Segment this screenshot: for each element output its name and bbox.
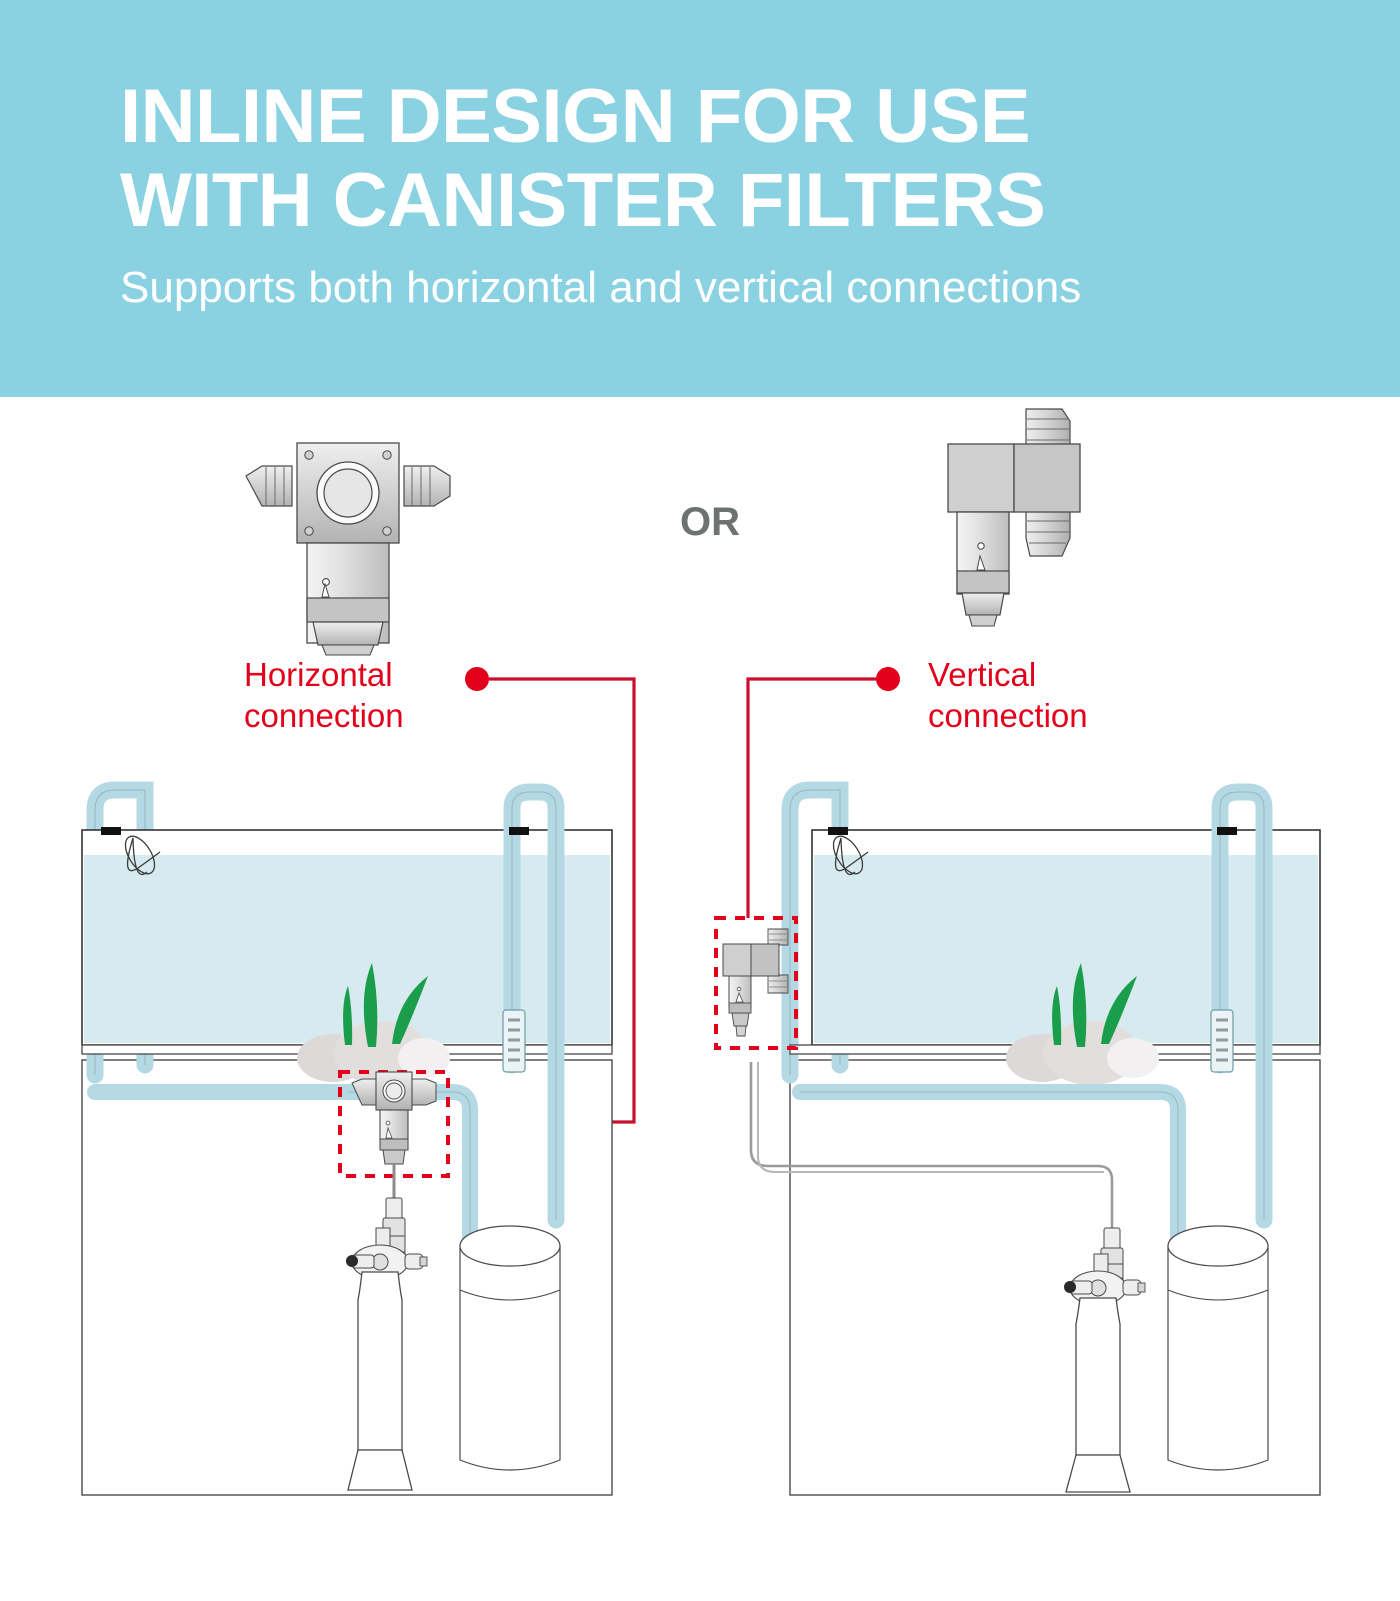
vertical-window-icon <box>978 543 984 549</box>
diagram-canvas <box>0 0 1400 1601</box>
scene-vertical <box>716 790 1320 1495</box>
vertical-bottom-nut <box>962 593 1004 615</box>
rim-clip-right-a <box>828 827 848 835</box>
product-horizontal-diffuser <box>246 443 450 655</box>
diffuser-bottom-nut <box>313 622 383 645</box>
infographic-page: INLINE DESIGN FOR USE WITH CANISTER FILT… <box>0 0 1400 1601</box>
canister-filter-left <box>460 1226 560 1470</box>
callout-dot-horizontal <box>465 667 489 691</box>
diffuser-window-icon <box>323 579 330 586</box>
scene-horizontal <box>82 790 612 1495</box>
co2-cylinder-left <box>348 1272 412 1490</box>
tank-water-right <box>814 855 1318 1043</box>
callout-dot-vertical <box>876 667 900 691</box>
vertical-block-left <box>948 444 1014 512</box>
barb-fitting-bottom-icon <box>1026 510 1070 556</box>
product-vertical-diffuser <box>948 409 1080 626</box>
canister-filter-right <box>1168 1226 1268 1470</box>
barb-fitting-right-icon <box>404 466 450 506</box>
diffuser-port-inner <box>324 469 372 517</box>
co2-cylinder-right <box>1066 1298 1130 1492</box>
rim-clip-right-b <box>1217 827 1237 835</box>
rim-clip-left-a <box>101 827 121 835</box>
inline-diffuser-vertical <box>723 929 788 1036</box>
rim-clip-left-b <box>509 827 529 835</box>
vertical-block-right <box>1014 444 1080 512</box>
barb-fitting-left-icon <box>246 466 292 506</box>
